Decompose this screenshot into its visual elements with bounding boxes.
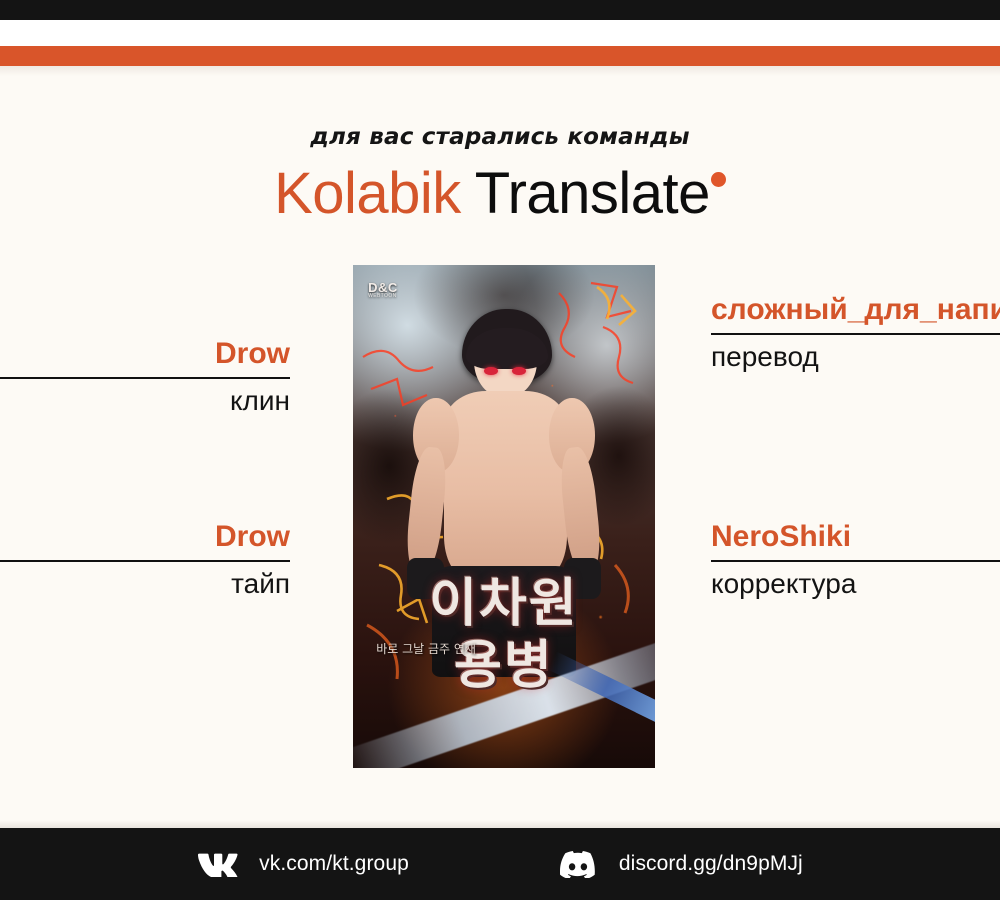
footer-bar: vk.com/kt.group discord.gg/dn9pMJj xyxy=(0,828,1000,900)
credit-block-clean: Drow клин xyxy=(0,337,290,418)
credit-nick: NeroShiki xyxy=(711,520,1000,554)
dot-icon xyxy=(711,172,726,187)
footer-link-discord[interactable]: discord.gg/dn9pMJj xyxy=(557,849,803,879)
credit-role: корректура xyxy=(711,567,1000,601)
vk-icon xyxy=(197,849,239,879)
character-eye-left xyxy=(484,367,498,375)
publisher-logo-subtext: WEBTOON xyxy=(368,294,398,299)
character-arm-right xyxy=(558,445,604,574)
footer-link-vk[interactable]: vk.com/kt.group xyxy=(197,849,409,879)
top-black-band xyxy=(0,0,1000,20)
credit-nick: Drow xyxy=(0,520,290,554)
cover-subtitle: 바로 그날 금주 연재 xyxy=(376,642,476,657)
credit-divider xyxy=(0,560,290,562)
credit-role: перевод xyxy=(711,340,1000,374)
top-orange-band xyxy=(0,46,1000,66)
credit-divider xyxy=(711,560,1000,562)
bottom-fade-band xyxy=(0,820,1000,828)
credit-role: клин xyxy=(0,384,290,418)
credit-block-proofread: NeroShiki корректура xyxy=(711,520,1000,601)
header: для вас старались команды KolabikTransla… xyxy=(0,125,1000,225)
character-torso xyxy=(444,391,568,577)
credit-block-typeset: Drow тайп xyxy=(0,520,290,601)
top-fade-band xyxy=(0,66,1000,76)
publisher-logo: D&C WEBTOON xyxy=(368,281,398,299)
brand-title: KolabikTranslate xyxy=(274,164,726,225)
credit-divider xyxy=(0,377,290,379)
header-kicker: для вас старались команды xyxy=(0,125,1000,150)
credits-page: для вас старались команды KolabikTransla… xyxy=(0,0,1000,900)
cover-title-block: 이차원 용병 바로 그날 금주 연재 xyxy=(365,567,643,738)
credit-nick: сложный_для_написания_ник xyxy=(711,293,1000,327)
manga-cover-image: D&C WEBTOON 이차원 용병 바로 그날 금주 연재 xyxy=(353,265,655,768)
credit-nick: Drow xyxy=(0,337,290,371)
character-eye-right xyxy=(512,367,526,375)
discord-icon xyxy=(557,849,599,879)
footer-link-discord-text: discord.gg/dn9pMJj xyxy=(619,852,803,876)
cover-title-line1: 이차원 xyxy=(365,580,643,629)
credit-block-translate: сложный_для_написания_ник перевод xyxy=(711,293,1000,374)
footer-link-vk-text: vk.com/kt.group xyxy=(259,852,409,876)
top-white-band xyxy=(0,20,1000,46)
credit-divider xyxy=(711,333,1000,335)
brand-name-first: Kolabik xyxy=(274,161,461,226)
brand-name-second: Translate xyxy=(475,161,710,226)
credit-role: тайп xyxy=(0,567,290,601)
footer-links: vk.com/kt.group discord.gg/dn9pMJj xyxy=(0,828,1000,900)
